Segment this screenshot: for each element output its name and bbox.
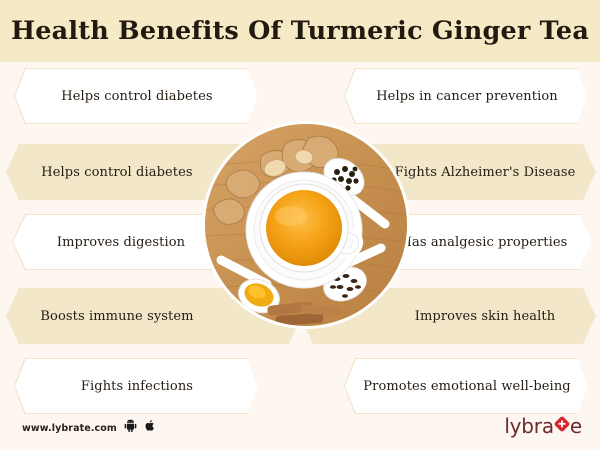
brand-name-prefix: lybra [504, 414, 554, 438]
benefit-banner-left-5[interactable]: Fights infections [14, 358, 258, 414]
page-title: Health Benefits Of Turmeric Ginger Tea [11, 16, 589, 46]
benefit-label: Helps control diabetes [61, 89, 212, 104]
benefit-label: Helps in cancer prevention [376, 89, 558, 104]
benefit-row-5: Fights infections Promotes emotional wel… [0, 358, 600, 414]
brand-name-suffix: e [570, 414, 582, 438]
benefit-label: Improves digestion [57, 235, 185, 250]
benefit-label: Fights infections [81, 379, 193, 394]
benefit-label: Improves skin health [415, 309, 555, 324]
benefit-banner-right-5[interactable]: Promotes emotional well-being [344, 358, 588, 414]
plus-diamond-icon [554, 416, 570, 437]
lybrate-logo[interactable]: lybra e [504, 414, 582, 438]
infographic-page: Health Benefits Of Turmeric Ginger Tea H… [0, 0, 600, 450]
title-band: Health Benefits Of Turmeric Ginger Tea [0, 0, 600, 62]
footer-left: www.lybrate.com [22, 419, 156, 437]
turmeric-tea-photo [205, 124, 407, 326]
site-url[interactable]: www.lybrate.com [22, 423, 117, 434]
benefit-label: Fights Alzheimer's Disease [395, 165, 576, 180]
benefit-label: Boosts immune system [40, 309, 193, 324]
android-icon[interactable] [124, 419, 137, 437]
benefit-label: Helps control diabetes [41, 165, 192, 180]
benefit-banner-right-1[interactable]: Helps in cancer prevention [344, 68, 588, 124]
benefit-label: Has analgesic properties [401, 235, 568, 250]
benefit-row-1: Helps control diabetes Helps in cancer p… [0, 68, 600, 124]
benefit-label: Promotes emotional well-being [363, 379, 570, 394]
apple-icon[interactable] [144, 419, 156, 437]
benefit-banner-left-1[interactable]: Helps control diabetes [14, 68, 258, 124]
